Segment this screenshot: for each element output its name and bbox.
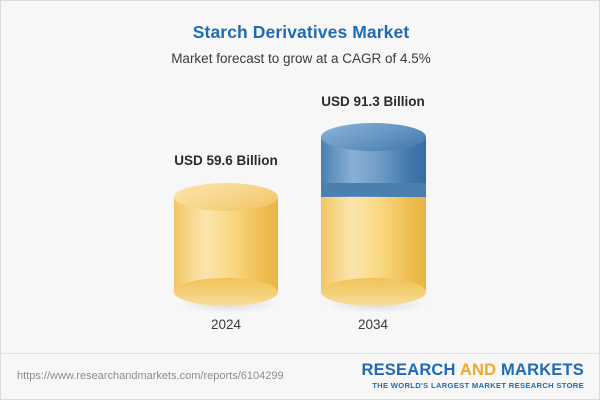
logo-word-research: RESEARCH bbox=[361, 361, 455, 379]
category-label-2034: 2034 bbox=[293, 317, 453, 333]
bar-bottom-cap-2034 bbox=[321, 278, 426, 306]
bar-2034[interactable] bbox=[321, 1, 426, 349]
logo-word-markets: MARKETS bbox=[501, 361, 584, 379]
bar-top-cap-2034 bbox=[321, 123, 426, 151]
logo-wordmark: RESEARCH AND MARKETS bbox=[361, 361, 584, 380]
bar-growth-bottom-edge-2034 bbox=[321, 183, 426, 211]
bar-bottom-cap-2024 bbox=[174, 278, 278, 306]
category-label-2024: 2024 bbox=[146, 317, 306, 333]
bar-top-cap-2024 bbox=[174, 183, 278, 211]
logo-tagline: THE WORLD'S LARGEST MARKET RESEARCH STOR… bbox=[361, 381, 584, 391]
bar-2024[interactable] bbox=[174, 1, 278, 349]
source-url[interactable]: https://www.researchandmarkets.com/repor… bbox=[17, 369, 284, 383]
plot-area: USD 59.6 Billion USD 91.3 Billion bbox=[1, 1, 600, 349]
logo-word-and: AND bbox=[460, 361, 496, 379]
research-and-markets-logo[interactable]: RESEARCH AND MARKETS THE WORLD'S LARGEST… bbox=[361, 361, 584, 391]
chart-canvas: Starch Derivatives Market Market forecas… bbox=[0, 0, 600, 400]
footer-divider bbox=[1, 353, 599, 354]
